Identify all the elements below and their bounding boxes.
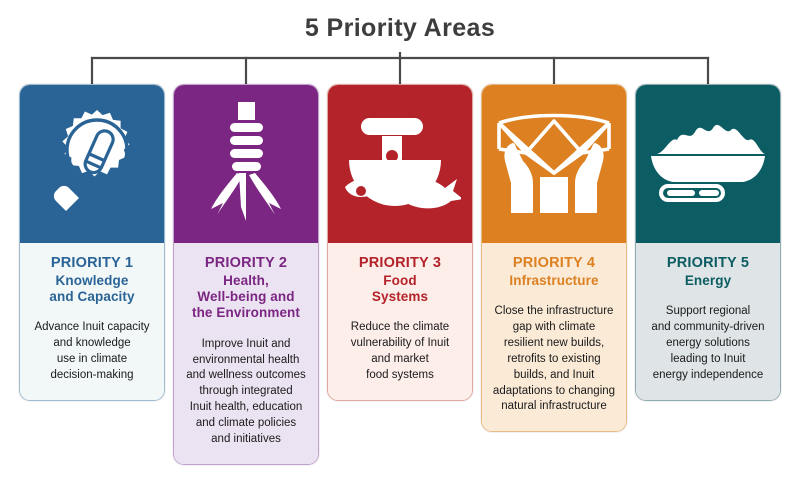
priority-1-description: Advance Inuit capacity and knowledge use…: [27, 320, 157, 383]
priority-1-subheading: Knowledge and Capacity: [27, 273, 157, 305]
priority-3-description: Reduce the climate vulnerability of Inui…: [335, 320, 465, 383]
priority-4-icon-panel: [482, 85, 626, 243]
priority-2-icon-panel: [174, 85, 318, 243]
priority-card-list: PRIORITY 1 Knowledge and Capacity Advanc…: [0, 84, 800, 465]
priority-card-4[interactable]: PRIORITY 4 Infrastructure Close the infr…: [481, 84, 627, 432]
priority-card-3[interactable]: PRIORITY 3 Food Systems Reduce the clima…: [327, 84, 473, 401]
priority-3-subheading: Food Systems: [335, 273, 465, 305]
magnifying-glass-seal-icon: [36, 103, 148, 225]
priority-5-description: Support regional and community-driven en…: [643, 304, 773, 383]
priority-5-icon-panel: [636, 85, 780, 243]
priority-4-subheading: Infrastructure: [489, 273, 619, 289]
priority-1-icon-panel: [20, 85, 164, 243]
page-title: 5 Priority Areas: [0, 14, 800, 43]
priority-areas-infographic: 5 Priority Areas: [0, 0, 800, 486]
priority-3-heading: PRIORITY 3: [335, 255, 465, 272]
priority-1-heading: PRIORITY 1: [27, 255, 157, 272]
priority-5-body: PRIORITY 5 Energy Support regional and c…: [636, 243, 780, 400]
priority-4-body: PRIORITY 4 Infrastructure Close the infr…: [482, 243, 626, 431]
priority-5-subheading: Energy: [643, 273, 773, 289]
hands-holding-bridge-network-icon: [491, 105, 617, 223]
priority-1-body: PRIORITY 1 Knowledge and Capacity Advanc…: [20, 243, 164, 400]
priority-4-description: Close the infrastructure gap with climat…: [489, 304, 619, 415]
priority-2-heading: PRIORITY 2: [181, 255, 311, 272]
priority-2-body: PRIORITY 2 Health, Well-being and the En…: [174, 243, 318, 464]
priority-3-body: PRIORITY 3 Food Systems Reduce the clima…: [328, 243, 472, 400]
bracket-connector: [0, 52, 800, 86]
priority-2-description: Improve Inuit and environmental health a…: [181, 337, 311, 448]
priority-card-2[interactable]: PRIORITY 2 Health, Well-being and the En…: [173, 84, 319, 465]
priority-card-5[interactable]: PRIORITY 5 Energy Support regional and c…: [635, 84, 781, 401]
priority-3-icon-panel: [328, 85, 472, 243]
priority-card-1[interactable]: PRIORITY 1 Knowledge and Capacity Advanc…: [19, 84, 165, 401]
priority-5-heading: PRIORITY 5: [643, 255, 773, 272]
priority-2-subheading: Health, Well-being and the Environment: [181, 273, 311, 322]
ulu-knife-fish-icon: [339, 108, 461, 220]
qamutik-sled-icon: [645, 114, 771, 214]
harpoon-kakivak-icon: [193, 99, 299, 229]
priority-4-heading: PRIORITY 4: [489, 255, 619, 272]
